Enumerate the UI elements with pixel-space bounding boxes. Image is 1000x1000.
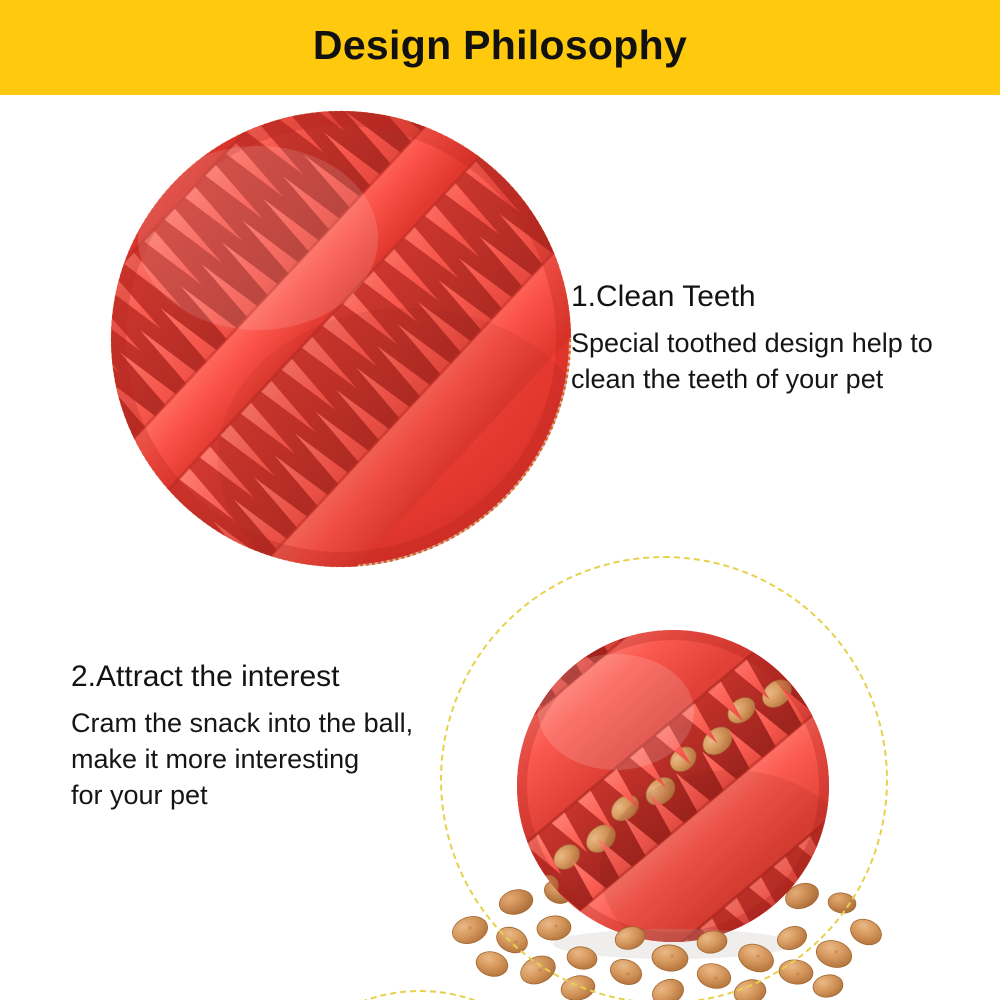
feature-block-clean-teeth: 1.Clean Teeth Special toothed design hel… <box>571 282 933 397</box>
feature-body-line: for your pet <box>71 777 413 813</box>
feature-body-line: Cram the snack into the ball, <box>71 705 413 741</box>
treat-ball-illustration <box>430 540 900 1000</box>
feature-heading-clean-teeth: 1.Clean Teeth <box>571 282 933 312</box>
red-toothed-dog-ball-closeup-image <box>108 108 574 570</box>
red-treat-ball-filled-with-kibble-image <box>430 540 900 1000</box>
ball-closeup-illustration <box>108 108 574 570</box>
header-banner: Design Philosophy <box>0 0 1000 95</box>
page-title: Design Philosophy <box>313 25 687 66</box>
feature-block-attract-interest: 2.Attract the interest Cram the snack in… <box>71 662 413 814</box>
feature-body-line: make it more interesting <box>71 741 413 777</box>
feature-body-line: clean the teeth of your pet <box>571 361 933 397</box>
feature-body-line: Special toothed design help to <box>571 325 933 361</box>
infographic-page: Design Philosophy <box>0 0 1000 1000</box>
feature-heading-attract-interest: 2.Attract the interest <box>71 662 413 692</box>
